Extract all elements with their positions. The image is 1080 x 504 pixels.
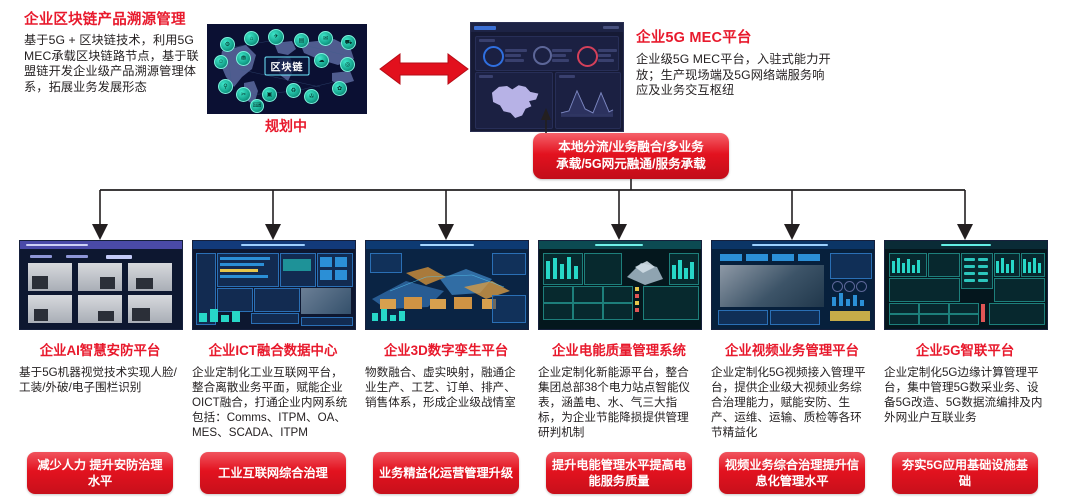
column-digital-twin: 企业3D数字孪生平台 物数融合、虚实映射，融通企业生产、工艺、订单、排产、销售体… [365, 240, 527, 410]
outcome-pill-3: 业务精益化运营管理升级 [373, 452, 519, 494]
column-title: 企业视频业务管理平台 [711, 339, 873, 359]
node-icon-8: ⛃ [236, 51, 251, 66]
line-chart-graphic [559, 83, 615, 117]
column-title: 企业5G智联平台 [884, 339, 1046, 359]
mec-block: 企业5G MEC平台 企业级5G MEC平台，入驻式能力开放；生产现场端及5G网… [636, 26, 832, 99]
gauge-3 [577, 46, 598, 67]
outcome-pill-5: 视频业务综合治理提升信息化管理水平 [719, 452, 865, 494]
gauge-1 [483, 46, 504, 67]
node-icon-3: ✈ [268, 29, 284, 45]
column-body: 企业定制化5G视频接入管理平台，提供企业级大视频业务综合治理能力，赋能安防、生产… [711, 365, 873, 440]
ict-data-center-dashboard-thumbnail [192, 240, 356, 330]
video-service-dashboard-thumbnail [711, 240, 875, 330]
node-icon-9: ☁ [314, 53, 329, 68]
power-quality-dashboard-thumbnail [538, 240, 702, 330]
banner-line-2: 承载/5G网元融通/服务承载 [556, 157, 706, 171]
node-icon-10: ◎ [340, 57, 355, 72]
digital-twin-3d-dashboard-thumbnail [365, 240, 529, 330]
mec-body: 企业级5G MEC平台，入驻式能力开放；生产现场端及5G网络端服务响应及业务交互… [636, 52, 832, 99]
embedded-video-tile [301, 288, 351, 314]
node-icon-2: ⌂ [244, 31, 259, 46]
blockchain-body: 基于5G + 区块链技术，利用5G MEC承载区块链路节点，基于联盟链开发企业级… [24, 33, 204, 95]
node-icon-4: ▤ [294, 33, 309, 48]
node-icon-17: ⌨ [250, 99, 264, 113]
node-icon-1: ⚙ [220, 37, 235, 52]
machine-3d-graphic [623, 253, 667, 287]
column-title: 企业ICT融合数据中心 [192, 339, 354, 359]
column-ict: 企业ICT融合数据中心 企业定制化工业互联网平台，整合离散业务平面，赋能企业OI… [192, 240, 354, 440]
camera-feed-3 [128, 263, 172, 291]
column-video-service: 企业视频业务管理平台 企业定制化5G视频接入管理平台，提供企业级大视频业务综合治… [711, 240, 873, 440]
gauge-2 [533, 46, 552, 65]
ai-security-video-wall-thumbnail [19, 240, 183, 330]
node-icon-14: ♻ [286, 83, 301, 98]
blockchain-image-label: 区块链 [265, 57, 310, 76]
mec-dashboard-thumbnail [470, 22, 624, 132]
outcome-pill-2: 工业互联网综合治理 [200, 452, 346, 494]
node-icon-16: ✿ [332, 81, 347, 96]
banner-line-1: 本地分流/业务融合/多业务 [558, 140, 704, 154]
column-body: 基于5G机器视觉技术实现人脸/工装/外破/电子围栏识别 [19, 365, 181, 395]
outcome-pill-4: 提升电能管理水平提高电能服务质量 [546, 452, 692, 494]
blockchain-block: 企业区块链产品溯源管理 基于5G + 区块链技术，利用5G MEC承载区块链路节… [24, 8, 204, 95]
dashboard-header-bar [471, 23, 623, 32]
column-body: 企业定制化工业互联网平台，整合离散业务平面，赋能企业OICT融合，打通企业内网系… [192, 365, 354, 440]
blockchain-caption: 规划中 [207, 116, 365, 136]
column-ai-security: 企业AI智慧安防平台 基于5G机器视觉技术实现人脸/工装/外破/电子围栏识别 [19, 240, 181, 395]
camera-feed-6 [128, 295, 172, 323]
blockchain-title: 企业区块链产品溯源管理 [24, 8, 204, 29]
column-power-quality: 企业电能质量管理系统 企业定制化新能源平台，整合集团总部38个电力站点智能仪表，… [538, 240, 700, 440]
column-title: 企业3D数字孪生平台 [365, 339, 527, 359]
node-icon-13: ▣ [262, 87, 277, 102]
node-icon-15: ✇ [304, 89, 319, 104]
camera-feed-5 [78, 295, 122, 323]
node-icon-7: ☺ [214, 55, 228, 69]
camera-feed-2 [78, 263, 122, 291]
bidirectional-arrow-icon [378, 48, 470, 90]
column-body: 企业定制化新能源平台，整合集团总部38个电力站点智能仪表，涵盖电、水、气三大指标… [538, 365, 700, 440]
node-icon-5: ✉ [318, 31, 333, 46]
column-body: 企业定制化5G边缘计算管理平台，集中管理5G数采业务、设备5G改造、5G数据流编… [884, 365, 1046, 425]
camera-feed-1 [28, 263, 72, 291]
outcome-pill-1: 减少人力 提升安防治理水平 [27, 452, 173, 494]
capability-banner: 本地分流/业务融合/多业务 承载/5G网元融通/服务承载 [533, 133, 729, 179]
outcome-pill-6: 夯实5G应用基础设施基础 [892, 452, 1038, 494]
column-title: 企业AI智慧安防平台 [19, 339, 181, 359]
camera-feed-4 [28, 295, 72, 323]
column-body: 物数融合、虚实映射，融通企业生产、工艺、订单、排产、销售体系，形成企业级战情室 [365, 365, 527, 410]
site-video-tile [720, 265, 824, 307]
blockchain-world-map-thumbnail: ⚙ ⌂ ✈ ▤ ✉ ⛟ ☺ ⛃ ☁ ◎ ⚲ ✂ ▣ ♻ ✇ ✿ ⌨ 区块链 [207, 24, 367, 114]
node-icon-12: ✂ [236, 87, 251, 102]
node-icon-11: ⚲ [218, 79, 233, 94]
node-icon-6: ⛟ [341, 35, 356, 50]
5g-intelligent-connection-dashboard-thumbnail [884, 240, 1048, 330]
column-5g-connect: 企业5G智联平台 企业定制化5G边缘计算管理平台，集中管理5G数采业务、设备5G… [884, 240, 1046, 425]
mec-title: 企业5G MEC平台 [636, 26, 832, 47]
column-title: 企业电能质量管理系统 [538, 339, 700, 359]
diagram-canvas: 企业区块链产品溯源管理 基于5G + 区块链技术，利用5G MEC承载区块链路节… [0, 0, 1080, 504]
